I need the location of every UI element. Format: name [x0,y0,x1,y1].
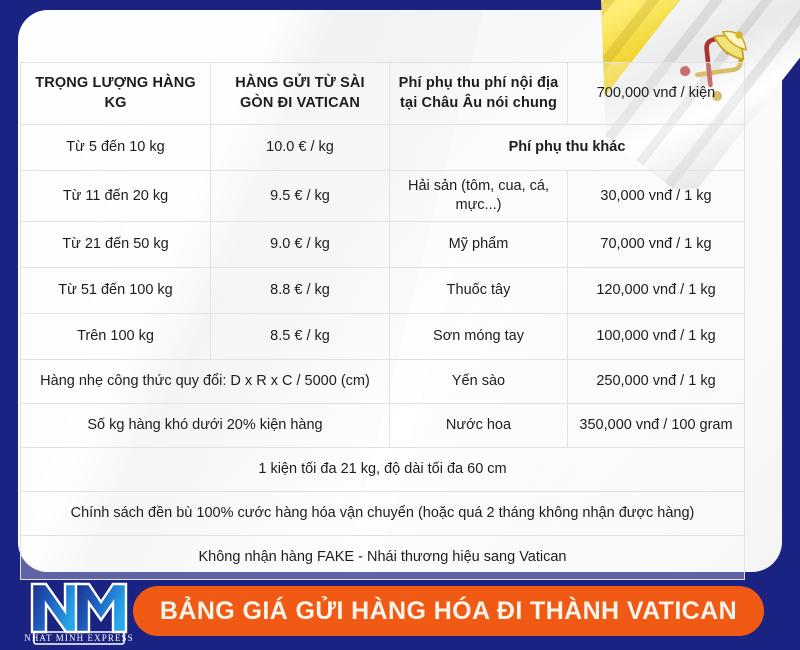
cell-weight-range: Từ 51 đến 100 kg [21,268,211,314]
page-title: BẢNG GIÁ GỬI HÀNG HÓA ĐI THÀNH VATICAN [160,597,737,626]
pricing-poster: TRỌNG LƯỢNG HÀNG KG HÀNG GỬI TỪ SÀI GÒN … [0,0,800,650]
note-difficult-goods: Số kg hàng khó dưới 20% kiện hàng [21,404,390,448]
table-header-row: TRỌNG LƯỢNG HÀNG KG HÀNG GỬI TỪ SÀI GÒN … [21,63,745,125]
note-compensation-policy: Chính sách đền bù 100% cước hàng hóa vận… [21,492,745,536]
cell-surcharge-price: 350,000 vnđ / 100 gram [568,404,745,448]
cell-surcharge-price: 30,000 vnđ / 1 kg [568,171,745,222]
table-row: Trên 100 kg 8.5 € / kg Sơn móng tay 100,… [21,314,745,360]
cell-rate: 8.5 € / kg [211,314,390,360]
cell-surcharge-price: 120,000 vnđ / 1 kg [568,268,745,314]
table-row: Từ 51 đến 100 kg 8.8 € / kg Thuốc tây 12… [21,268,745,314]
table-row: Từ 21 đến 50 kg 9.0 € / kg Mỹ phẩm 70,00… [21,222,745,268]
table-row: Chính sách đền bù 100% cước hàng hóa vận… [21,492,745,536]
cell-surcharge-price: 250,000 vnđ / 1 kg [568,360,745,404]
cell-rate: 9.5 € / kg [211,171,390,222]
footer-bar: NHAT MINH EXPRESS BẢNG GIÁ GỬI HÀNG HÓA … [0,572,800,650]
table-row: 1 kiện tối đa 21 kg, độ dài tối đa 60 cm [21,448,745,492]
column-header-domestic-price: 700,000 vnđ / kiện [568,63,745,125]
logo-caption: NHAT MINH EXPRESS [24,633,134,643]
note-max-parcel-size: 1 kiện tối đa 21 kg, độ dài tối đa 60 cm [21,448,745,492]
cell-surcharge-price: 70,000 vnđ / 1 kg [568,222,745,268]
cell-surcharge-item: Hải sản (tôm, cua, cá, mực...) [390,171,568,222]
table-row: Từ 5 đến 10 kg 10.0 € / kg Phí phụ thu k… [21,125,745,171]
column-header-domestic-fee: Phí phụ thu phí nội địa tại Châu Âu nói … [390,63,568,125]
table-row: Từ 11 đến 20 kg 9.5 € / kg Hải sản (tôm,… [21,171,745,222]
pricing-table: TRỌNG LƯỢNG HÀNG KG HÀNG GỬI TỪ SÀI GÒN … [20,62,745,580]
cell-surcharge-item: Nước hoa [390,404,568,448]
cell-weight-range: Từ 21 đến 50 kg [21,222,211,268]
cell-surcharge-item: Sơn móng tay [390,314,568,360]
cell-weight-range: Trên 100 kg [21,314,211,360]
subheader-other-fees: Phí phụ thu khác [390,125,745,171]
table-row: Hàng nhẹ công thức quy đổi: D x R x C / … [21,360,745,404]
cell-rate: 9.0 € / kg [211,222,390,268]
column-header-weight: TRỌNG LƯỢNG HÀNG KG [21,63,211,125]
cell-surcharge-item: Yến sào [390,360,568,404]
poster-title-banner: BẢNG GIÁ GỬI HÀNG HÓA ĐI THÀNH VATICAN [133,586,764,636]
cell-weight-range: Từ 11 đến 20 kg [21,171,211,222]
cell-surcharge-price: 100,000 vnđ / 1 kg [568,314,745,360]
cell-weight-range: Từ 5 đến 10 kg [21,125,211,171]
cell-surcharge-item: Mỹ phẩm [390,222,568,268]
cell-surcharge-item: Thuốc tây [390,268,568,314]
nhat-minh-express-logo: NHAT MINH EXPRESS [22,576,134,646]
note-volumetric-formula: Hàng nhẹ công thức quy đổi: D x R x C / … [21,360,390,404]
table-row: Số kg hàng khó dưới 20% kiện hàng Nước h… [21,404,745,448]
cell-rate: 8.8 € / kg [211,268,390,314]
column-header-route: HÀNG GỬI TỪ SÀI GÒN ĐI VATICAN [211,63,390,125]
cell-rate: 10.0 € / kg [211,125,390,171]
